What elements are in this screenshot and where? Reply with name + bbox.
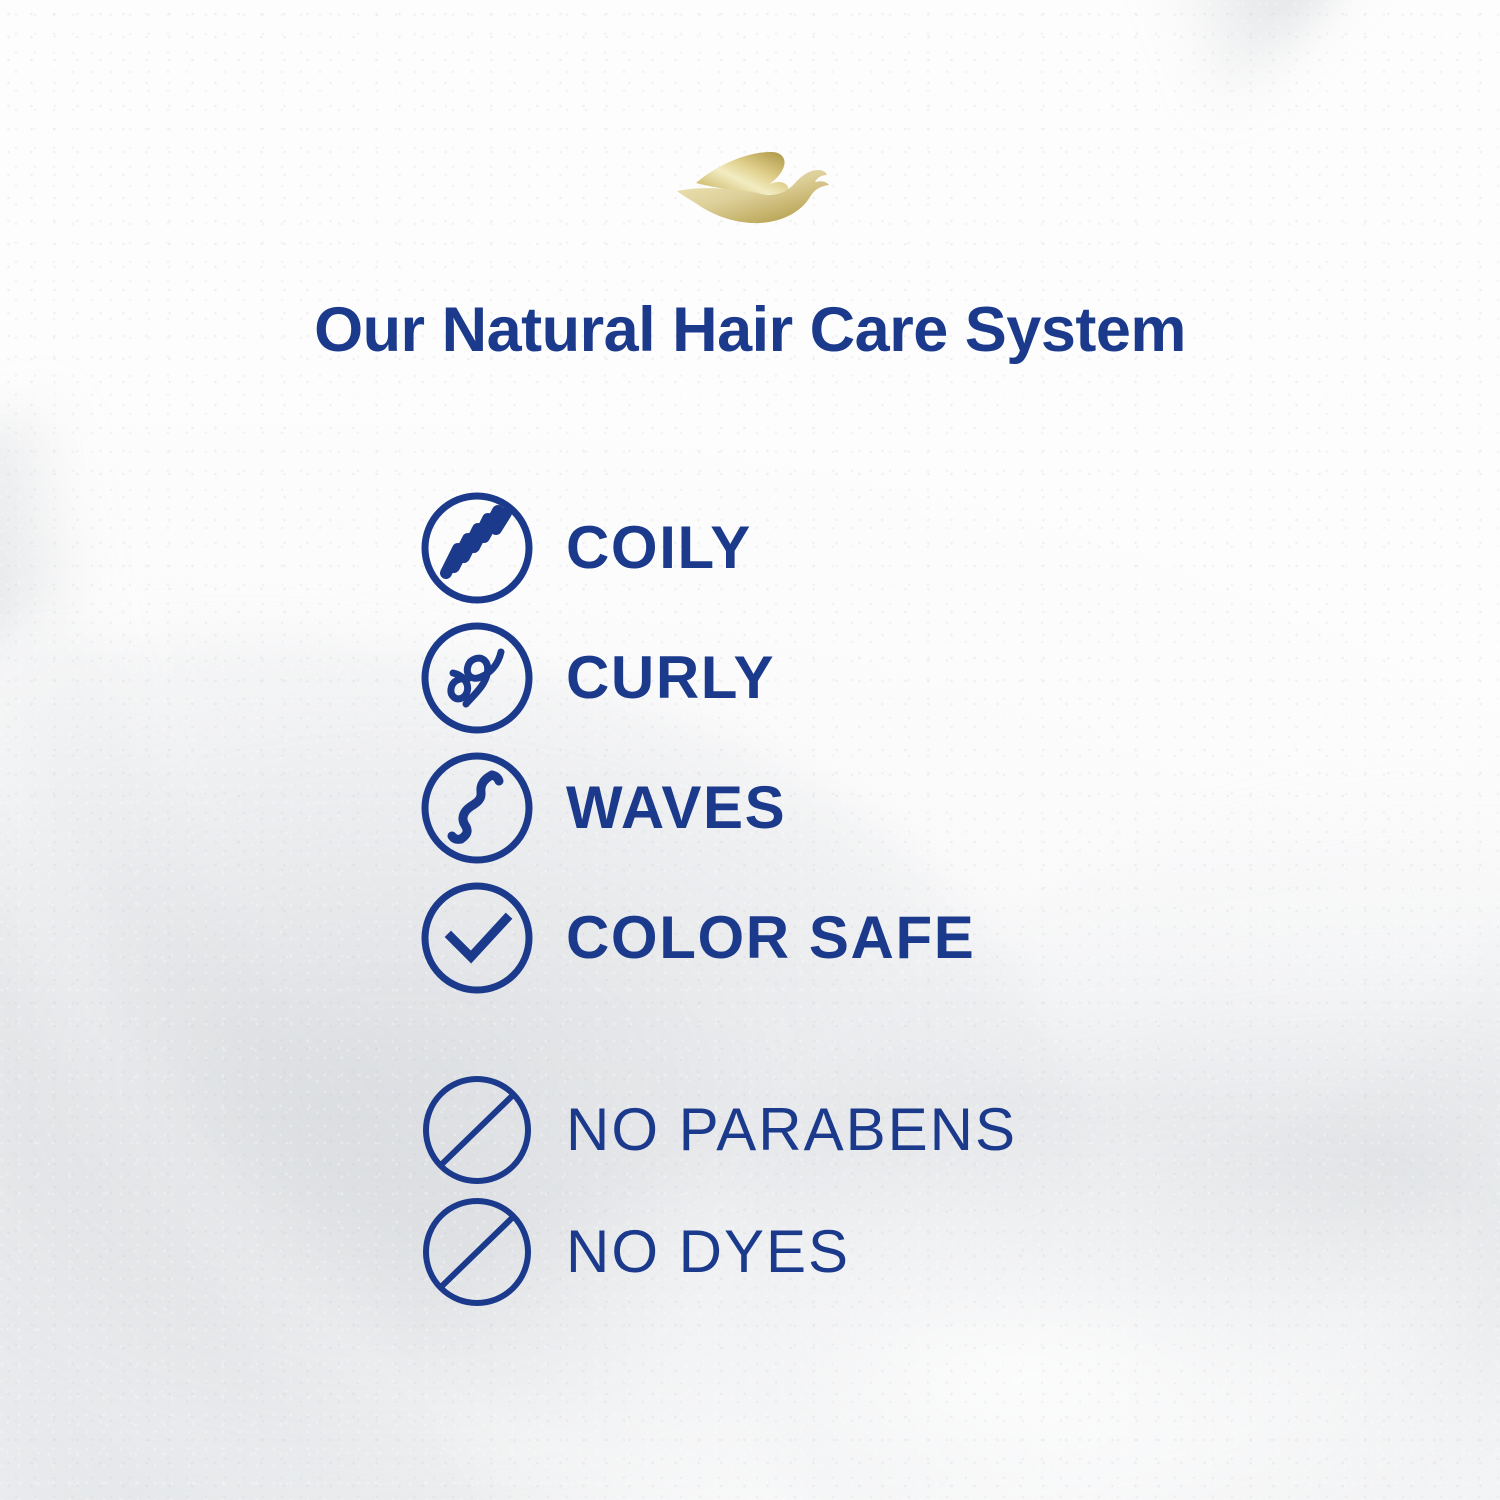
prohibition-icon	[418, 1193, 536, 1311]
brand-logo	[0, 150, 1500, 226]
feature-row-color-safe: COLOR SAFE	[418, 873, 1318, 1003]
feature-list: COILY CURLY	[418, 483, 1318, 1313]
feature-row-no-dyes: NO DYES	[418, 1191, 1318, 1313]
feature-label-waves: WAVES	[566, 778, 786, 838]
feature-row-curly: CURLY	[418, 613, 1318, 743]
wavy-hair-icon	[418, 749, 536, 867]
prohibition-icon	[418, 1071, 536, 1189]
feature-label-no-parabens: NO PARABENS	[566, 1100, 1017, 1160]
curly-hair-icon	[418, 619, 536, 737]
feature-label-color-safe: COLOR SAFE	[566, 908, 975, 968]
feature-row-waves: WAVES	[418, 743, 1318, 873]
feature-row-coily: COILY	[418, 483, 1318, 613]
feature-label-no-dyes: NO DYES	[566, 1222, 850, 1282]
dove-bird-logo-icon	[665, 150, 835, 226]
page-title: Our Natural Hair Care System	[0, 296, 1500, 365]
product-feature-card: Our Natural Hair Care System COILY	[0, 0, 1500, 1500]
feature-row-no-parabens: NO PARABENS	[418, 1069, 1318, 1191]
coily-hair-icon	[418, 489, 536, 607]
feature-label-coily: COILY	[566, 518, 752, 578]
checkmark-icon	[418, 879, 536, 997]
feature-label-curly: CURLY	[566, 648, 775, 708]
